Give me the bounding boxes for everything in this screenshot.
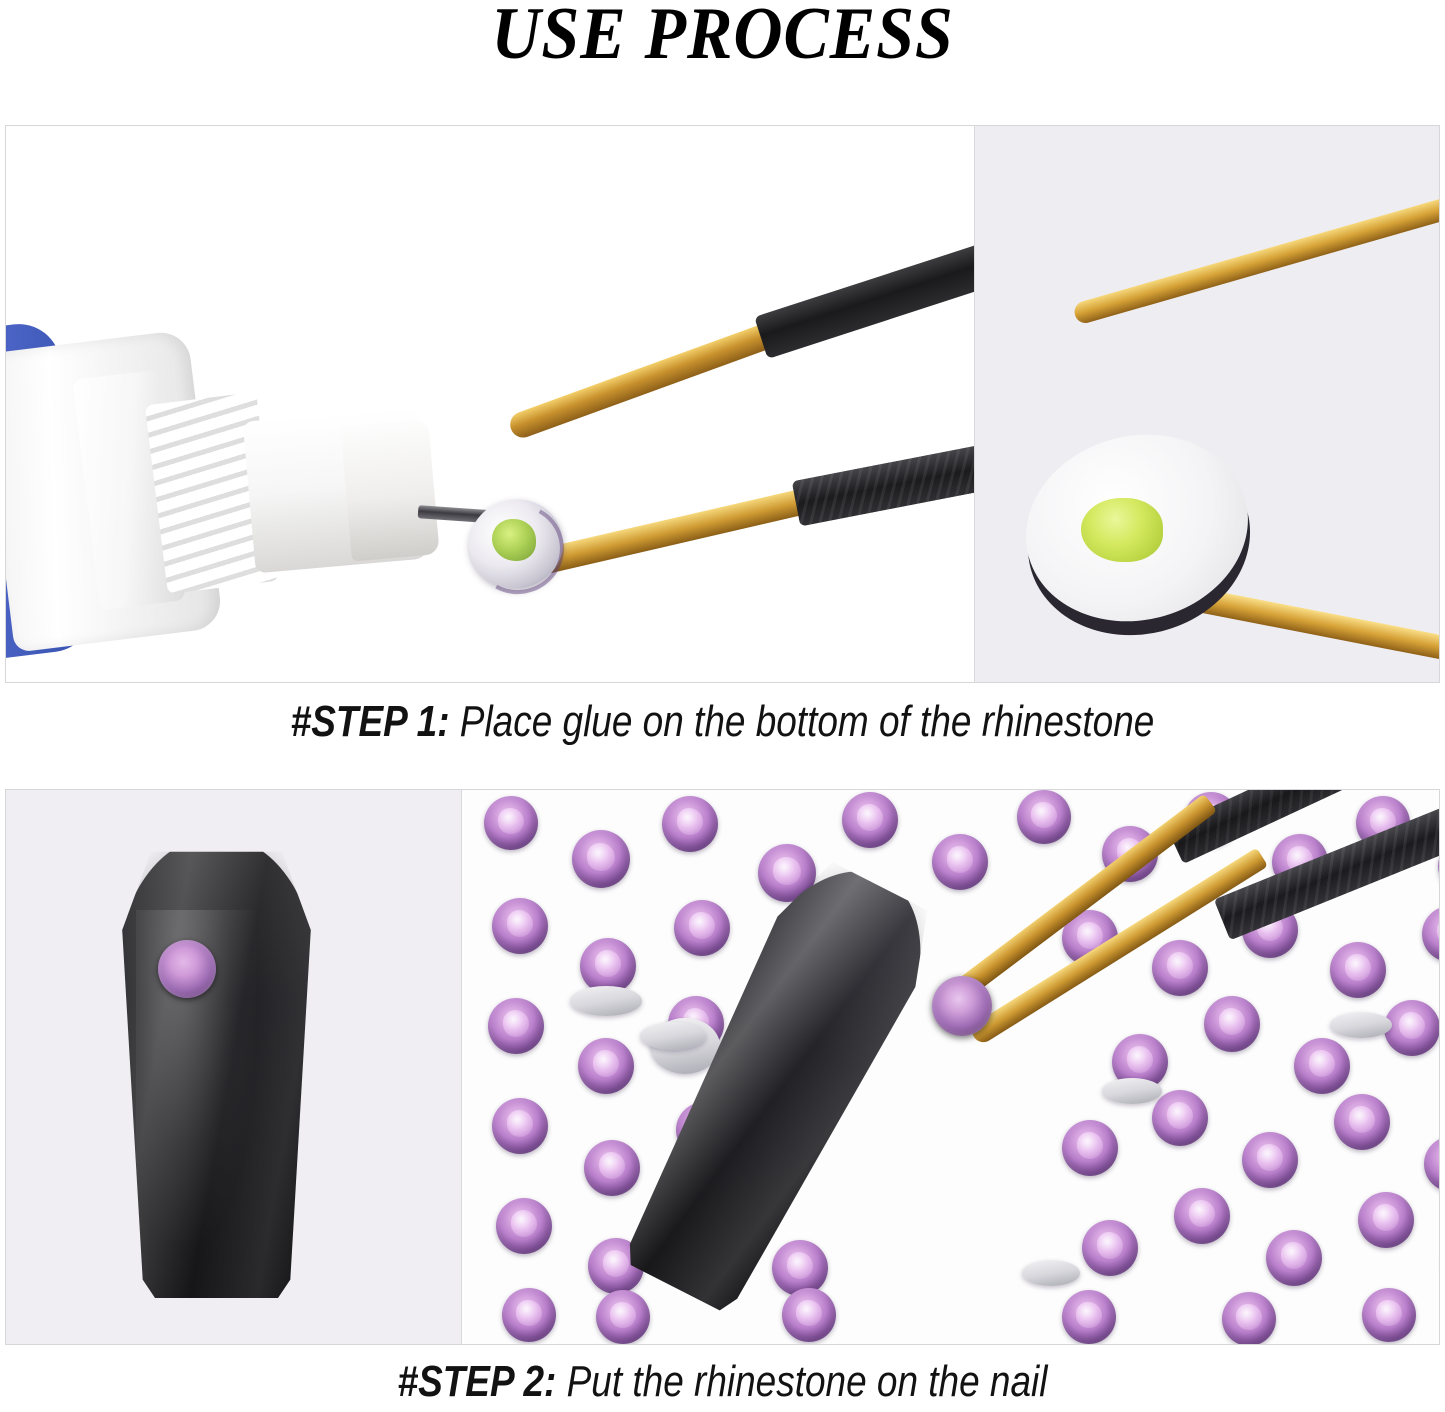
page-title: USE PROCESS — [58, 0, 1387, 74]
rhinestone — [1362, 1288, 1416, 1342]
rhinestone — [1062, 1290, 1116, 1344]
rhinestone — [1204, 996, 1260, 1052]
rhinestone-placement-photo — [462, 790, 1439, 1344]
rhinestone-flat-back — [1330, 1012, 1392, 1038]
rhinestone — [484, 796, 538, 850]
rhinestone — [572, 830, 630, 888]
glue-droplet-closeup-photo — [975, 126, 1439, 682]
tweezer-handle-upper — [754, 224, 975, 359]
glue-droplet — [492, 519, 536, 561]
rhinestone — [1152, 1090, 1208, 1146]
rhinestone — [1222, 1292, 1276, 1344]
rhinestone — [662, 796, 718, 852]
glue-application-photo — [6, 126, 975, 682]
rhinestone-flat-back — [570, 986, 642, 1016]
step-1-image-row — [5, 125, 1440, 683]
rhinestone — [584, 1140, 640, 1196]
rhinestone — [1294, 1038, 1350, 1094]
rhinestone — [578, 1038, 634, 1094]
rhinestone — [1358, 1192, 1414, 1248]
step-1-text: Place glue on the bottom of the rhinesto… — [460, 697, 1155, 746]
rhinestone — [1242, 1132, 1298, 1188]
rhinestone-flat-back — [1102, 1078, 1162, 1104]
rhinestone — [772, 1240, 828, 1296]
rhinestone — [1422, 906, 1439, 962]
tweezer-gold-arm-upper — [1072, 189, 1439, 326]
rhinestone — [674, 900, 730, 956]
rhinestone-being-placed — [932, 976, 992, 1036]
rhinestone — [1266, 1230, 1322, 1286]
step-2-text: Put the rhinestone on the nail — [567, 1357, 1048, 1406]
step-1-caption: #STEP 1: Place glue on the bottom of the… — [116, 697, 1330, 747]
rhinestone — [1174, 1188, 1230, 1244]
rhinestone — [1424, 1136, 1439, 1192]
tweezer-handle-lower — [792, 428, 975, 527]
rhinestone — [596, 1290, 650, 1344]
rhinestone — [488, 998, 544, 1054]
rhinestone — [1384, 1000, 1439, 1056]
glue-bottle-tip-ring — [340, 418, 440, 561]
step-1-label: #STEP 1: — [291, 697, 450, 746]
rhinestone — [1062, 1120, 1118, 1176]
rhinestone — [492, 898, 548, 954]
purple-rhinestone — [158, 940, 216, 998]
step-2-label: #STEP 2: — [398, 1357, 557, 1406]
rhinestone — [492, 1098, 548, 1154]
step-2-caption: #STEP 2: Put the rhinestone on the nail — [116, 1357, 1330, 1407]
rhinestone-flat-back — [640, 1022, 706, 1050]
rhinestone — [932, 834, 988, 890]
rhinestone — [1152, 940, 1208, 996]
rhinestone — [1082, 1220, 1138, 1276]
rhinestone — [502, 1288, 556, 1342]
rhinestone — [782, 1288, 836, 1342]
rhinestone — [1334, 1094, 1390, 1150]
rhinestone — [1330, 942, 1386, 998]
black-coffin-nail — [114, 838, 319, 1298]
rhinestone — [496, 1198, 552, 1254]
finished-nail-photo — [6, 790, 462, 1344]
rhinestone-flat-back — [1022, 1260, 1080, 1286]
glue-droplet-closeup — [1081, 498, 1163, 562]
rhinestone — [842, 792, 898, 848]
step-2-image-row — [5, 789, 1440, 1345]
rhinestone — [1017, 790, 1071, 844]
